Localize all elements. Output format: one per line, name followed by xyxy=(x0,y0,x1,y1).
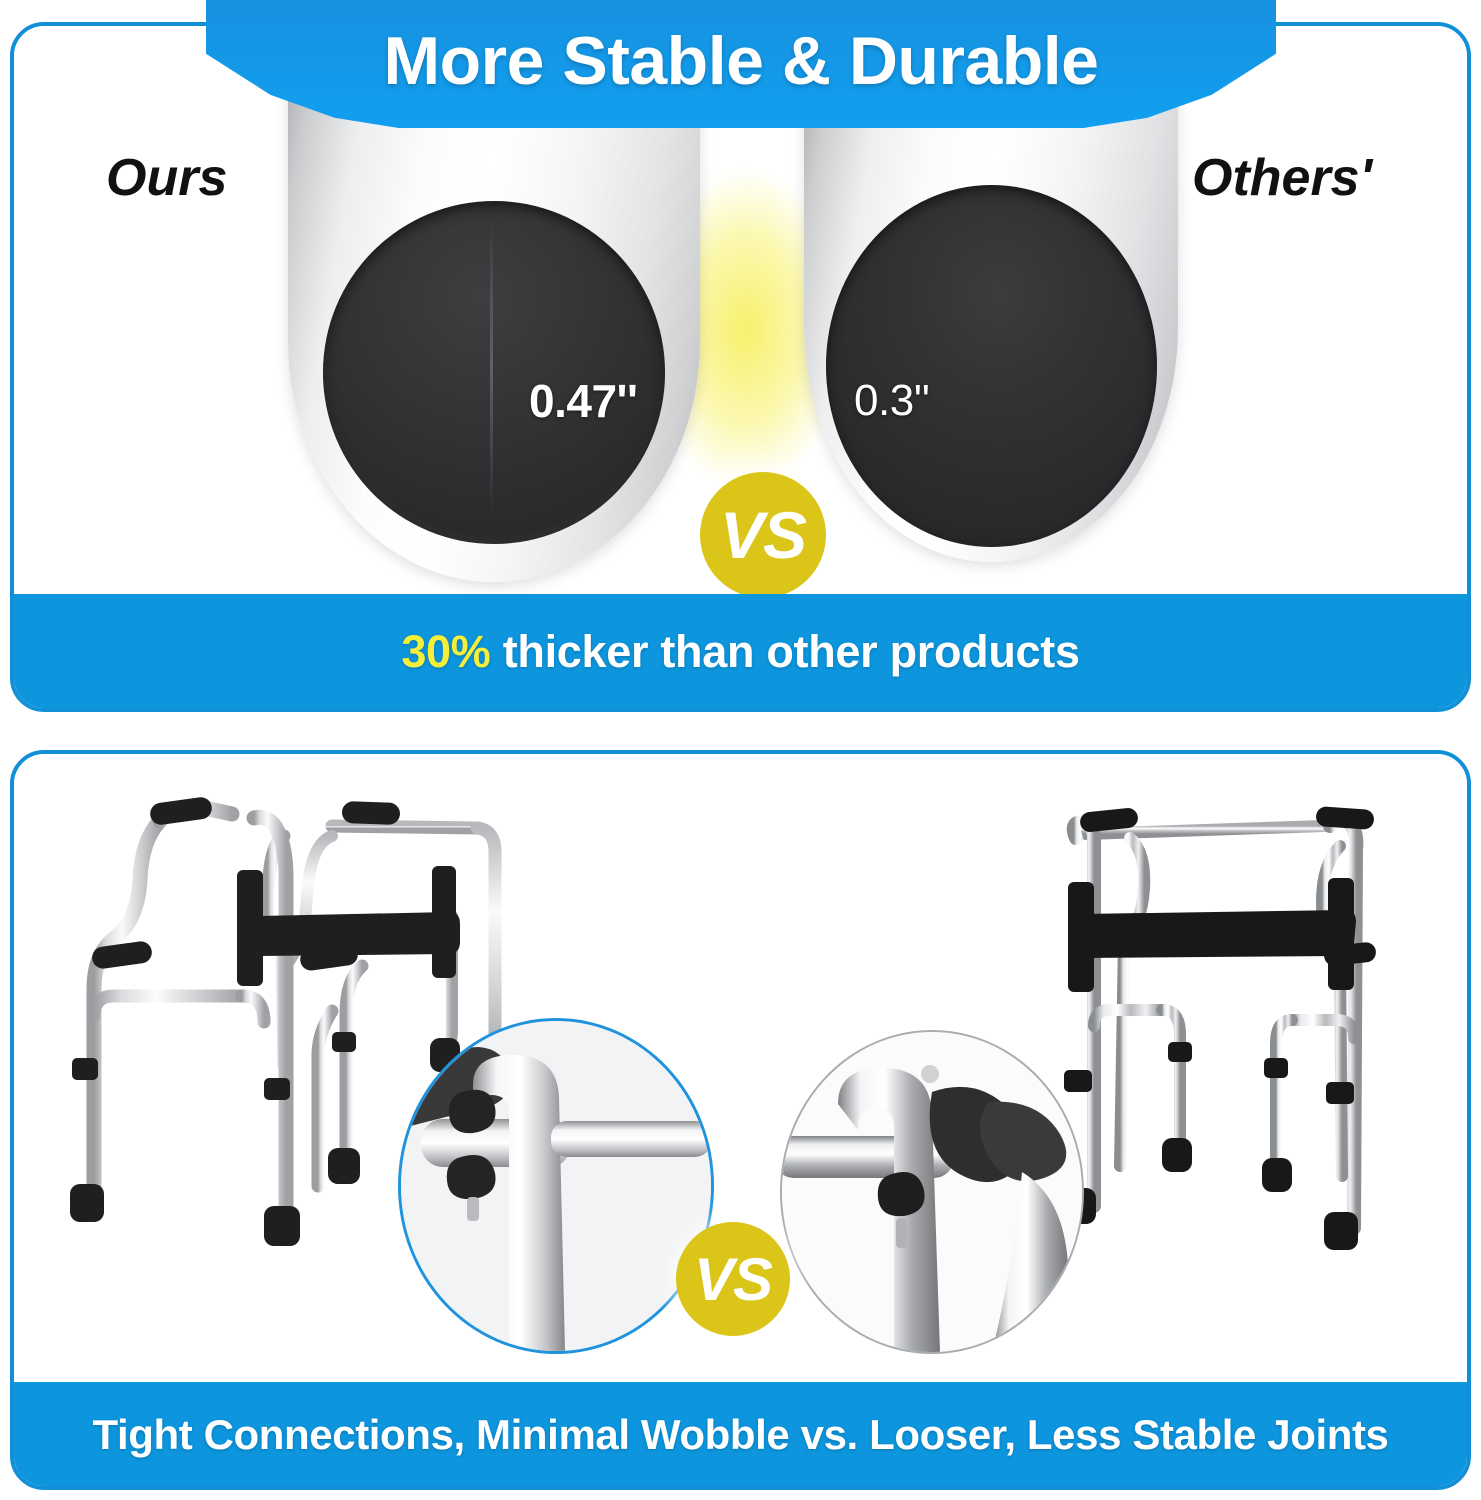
others-joint-detail-bubble xyxy=(780,1030,1084,1354)
others-tube-cross-section xyxy=(804,52,1178,562)
ribbon-body: More Stable & Durable xyxy=(206,0,1276,128)
ours-joint-detail-image xyxy=(401,1021,711,1351)
ours-column-label: Ours xyxy=(106,148,227,208)
vs-badge-top: VS xyxy=(700,472,826,598)
ours-tube-bore-streak xyxy=(490,220,493,516)
thickness-percent-highlight: 30% xyxy=(401,626,490,677)
others-column-label: Others' xyxy=(1192,148,1372,208)
ours-tube-bore xyxy=(323,201,665,544)
vs-badge-middle: VS xyxy=(676,1222,790,1336)
others-joint-detail-image xyxy=(782,1032,1082,1352)
ours-thickness-label: 0.47'' xyxy=(529,374,637,428)
thickness-footer-rest: thicker than other products xyxy=(491,626,1080,677)
others-walker-illustration xyxy=(1024,776,1444,1316)
headline-ribbon: More Stable & Durable xyxy=(206,0,1276,128)
others-tube-bore xyxy=(826,185,1157,547)
ours-joint-detail-bubble xyxy=(398,1018,714,1354)
others-thickness-label: 0.3'' xyxy=(854,376,929,426)
bottom-panel-footer-bar: Tight Connections, Minimal Wobble vs. Lo… xyxy=(12,1382,1469,1488)
joint-comparison-panel: Tight Connections, Minimal Wobble vs. Lo… xyxy=(10,750,1471,1490)
bottom-panel-footer-text: Tight Connections, Minimal Wobble vs. Lo… xyxy=(92,1411,1388,1459)
top-panel-footer-text: 30% thicker than other products xyxy=(401,626,1079,678)
top-panel-footer-bar: 30% thicker than other products xyxy=(12,594,1469,710)
headline-title: More Stable & Durable xyxy=(384,22,1099,100)
